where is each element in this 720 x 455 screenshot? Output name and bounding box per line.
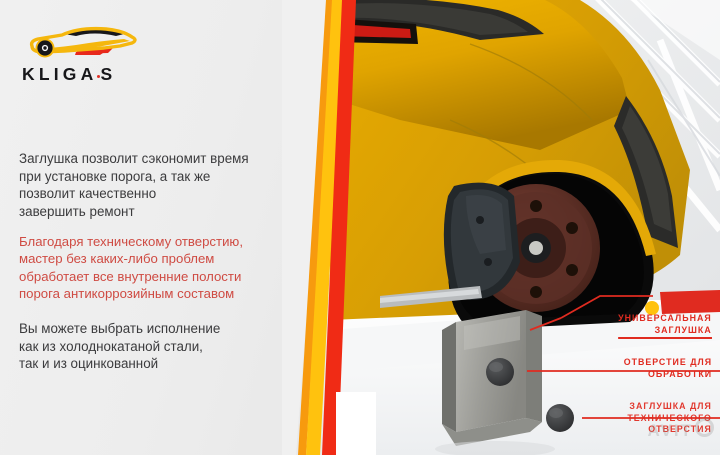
left-info-panel: KLIGAS Заглушка позволит сэкономит время… — [0, 0, 340, 455]
sill-plug — [486, 358, 514, 386]
callout-treatment-hole: ОТВЕРСТИЕ ДЛЯ ОБРАБОТКИ — [624, 357, 712, 380]
benefit-2-line-3: обработает все внутренние полости — [19, 268, 299, 285]
brand-name-part3: S — [100, 64, 116, 84]
benefit-1-line-1: Заглушка позволит сэкономит время — [19, 150, 299, 168]
benefit-text-block-2: Благодаря техническому отверстию, мастер… — [19, 233, 299, 303]
benefit-1-line-2: при установке порога, а так же — [19, 168, 299, 186]
benefit-text-block-1: Заглушка позволит сэкономит время при ус… — [19, 150, 299, 220]
loose-plug — [546, 404, 574, 432]
callout-1-underline — [618, 337, 712, 339]
benefit-3-line-2: как из холоднокатаной стали, — [19, 338, 299, 356]
callout-1-line-1: УНИВЕРСАЛЬНАЯ — [618, 313, 712, 325]
brand-name-part2: A — [81, 64, 98, 84]
divider-bottom-white-mask — [336, 392, 376, 455]
benefit-2-line-1: Благодаря техническому отверстию, — [19, 233, 299, 250]
sports-car-logo-icon — [20, 22, 150, 62]
advertisement-banner: KLIGAS Заглушка позволит сэкономит время… — [0, 0, 720, 455]
brand-wordmark: KLIGAS — [22, 66, 116, 84]
callout-2-line-2: ОБРАБОТКИ — [624, 369, 712, 381]
car-photo-illustration — [330, 0, 720, 455]
brand-name-part1: KLIG — [22, 64, 81, 84]
benefit-1-line-3: позволит качественно — [19, 185, 299, 203]
benefit-2-line-4: порога антикоррозийным составом — [19, 285, 299, 302]
callout-3-line-1: ЗАГЛУШКА ДЛЯ — [628, 401, 712, 413]
brand-logo: KLIGAS — [20, 22, 170, 92]
callout-universal-plug: УНИВЕРСАЛЬНАЯ ЗАГЛУШКА — [618, 313, 712, 339]
watermark-o-icon — [695, 418, 714, 437]
benefit-3-line-3: так и из оцинкованной — [19, 355, 299, 373]
benefit-text-block-3: Вы можете выбрать исполнение как из холо… — [19, 320, 299, 373]
product-photo — [330, 0, 720, 455]
benefit-3-line-1: Вы можете выбрать исполнение — [19, 320, 299, 338]
avito-watermark: AVIT — [648, 418, 714, 441]
watermark-text: AVIT — [648, 421, 693, 440]
callout-2-line-1: ОТВЕРСТИЕ ДЛЯ — [624, 357, 712, 369]
steel-sill-plate — [442, 310, 542, 446]
callout-1-line-2: ЗАГЛУШКА — [618, 325, 712, 337]
benefit-1-line-4: завершить ремонт — [19, 203, 299, 221]
benefit-2-line-2: мастер без каких-либо проблем — [19, 250, 299, 267]
